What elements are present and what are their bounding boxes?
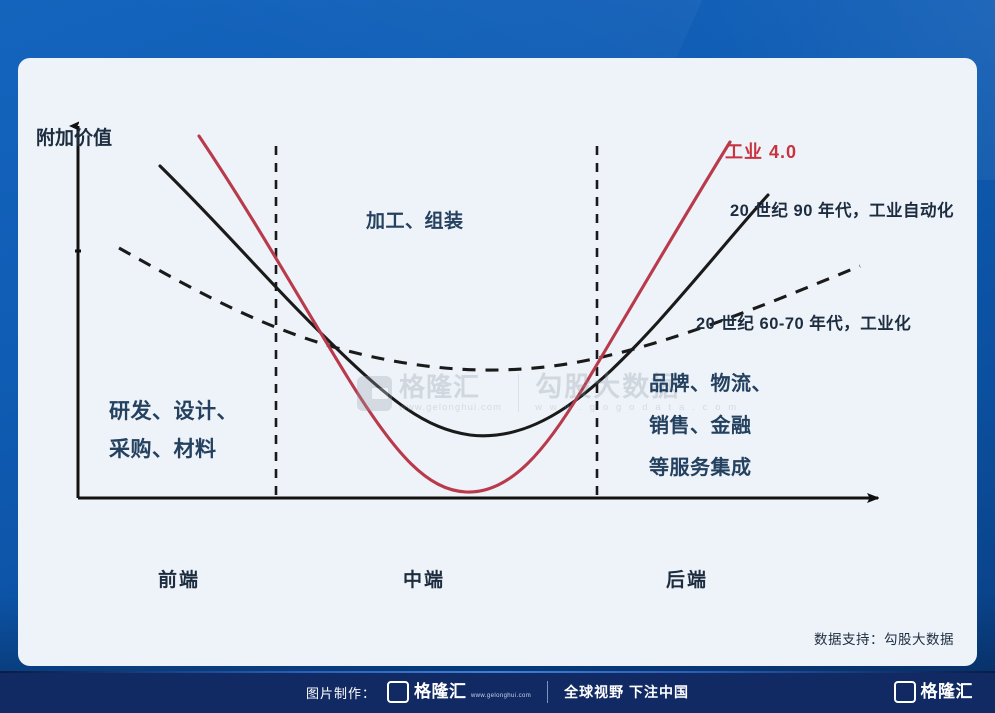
- x-axis-tick-mid: 中端: [403, 565, 445, 592]
- x-axis-tick-back: 后端: [666, 565, 708, 592]
- backend-desc-line2: 销售、金融: [649, 405, 772, 447]
- backend-desc-line1: 品牌、物流、: [649, 363, 772, 405]
- footer-right-logo: 格隆汇: [894, 681, 974, 703]
- annotation-backend-desc: 品牌、物流、 销售、金融 等服务集成: [649, 363, 772, 489]
- frontend-desc-line1: 研发、设计、: [109, 393, 238, 431]
- gelonghui-logo-icon: [387, 681, 409, 703]
- footer-brand-cn: 格隆汇: [414, 682, 467, 701]
- footer-slogan: 全球视野 下注中国: [564, 682, 689, 702]
- annotation-processing: 加工、组装: [366, 206, 464, 233]
- source-note: 数据支持：勾股大数据: [814, 628, 954, 648]
- footer-divider: [547, 681, 548, 703]
- series-label-industry-40: 工业 4.0: [725, 138, 797, 164]
- chart-card: 格隆汇 www.gelonghui.com 勾股大数据 w w w . g o …: [18, 58, 977, 666]
- annotation-frontend-desc: 研发、设计、 采购、材料: [109, 393, 238, 469]
- footer-brand-url: www.gelonghui.com: [471, 693, 531, 699]
- footer-made-by-label: 图片制作：: [306, 683, 376, 702]
- footer-gelonghui-logo: 格隆汇 www.gelonghui.com: [387, 681, 531, 703]
- footer-bar: 图片制作： 格隆汇 www.gelonghui.com 全球视野 下注中国 格隆…: [0, 671, 995, 713]
- backend-desc-line3: 等服务集成: [649, 447, 772, 489]
- footer-center-group: 图片制作： 格隆汇 www.gelonghui.com 全球视野 下注中国: [306, 681, 689, 703]
- y-axis-label: 附加价值: [36, 126, 62, 151]
- gelonghui-logo-icon: [894, 681, 916, 703]
- series-label-automation-90s: 20 世纪 90 年代，工业自动化: [730, 197, 954, 221]
- frontend-desc-line2: 采购、材料: [109, 431, 238, 469]
- footer-right-brand-cn: 格隆汇: [921, 682, 974, 701]
- x-axis-tick-front: 前端: [158, 565, 200, 592]
- series-label-industrialization-6070: 20 世纪 60-70 年代，工业化: [696, 310, 911, 334]
